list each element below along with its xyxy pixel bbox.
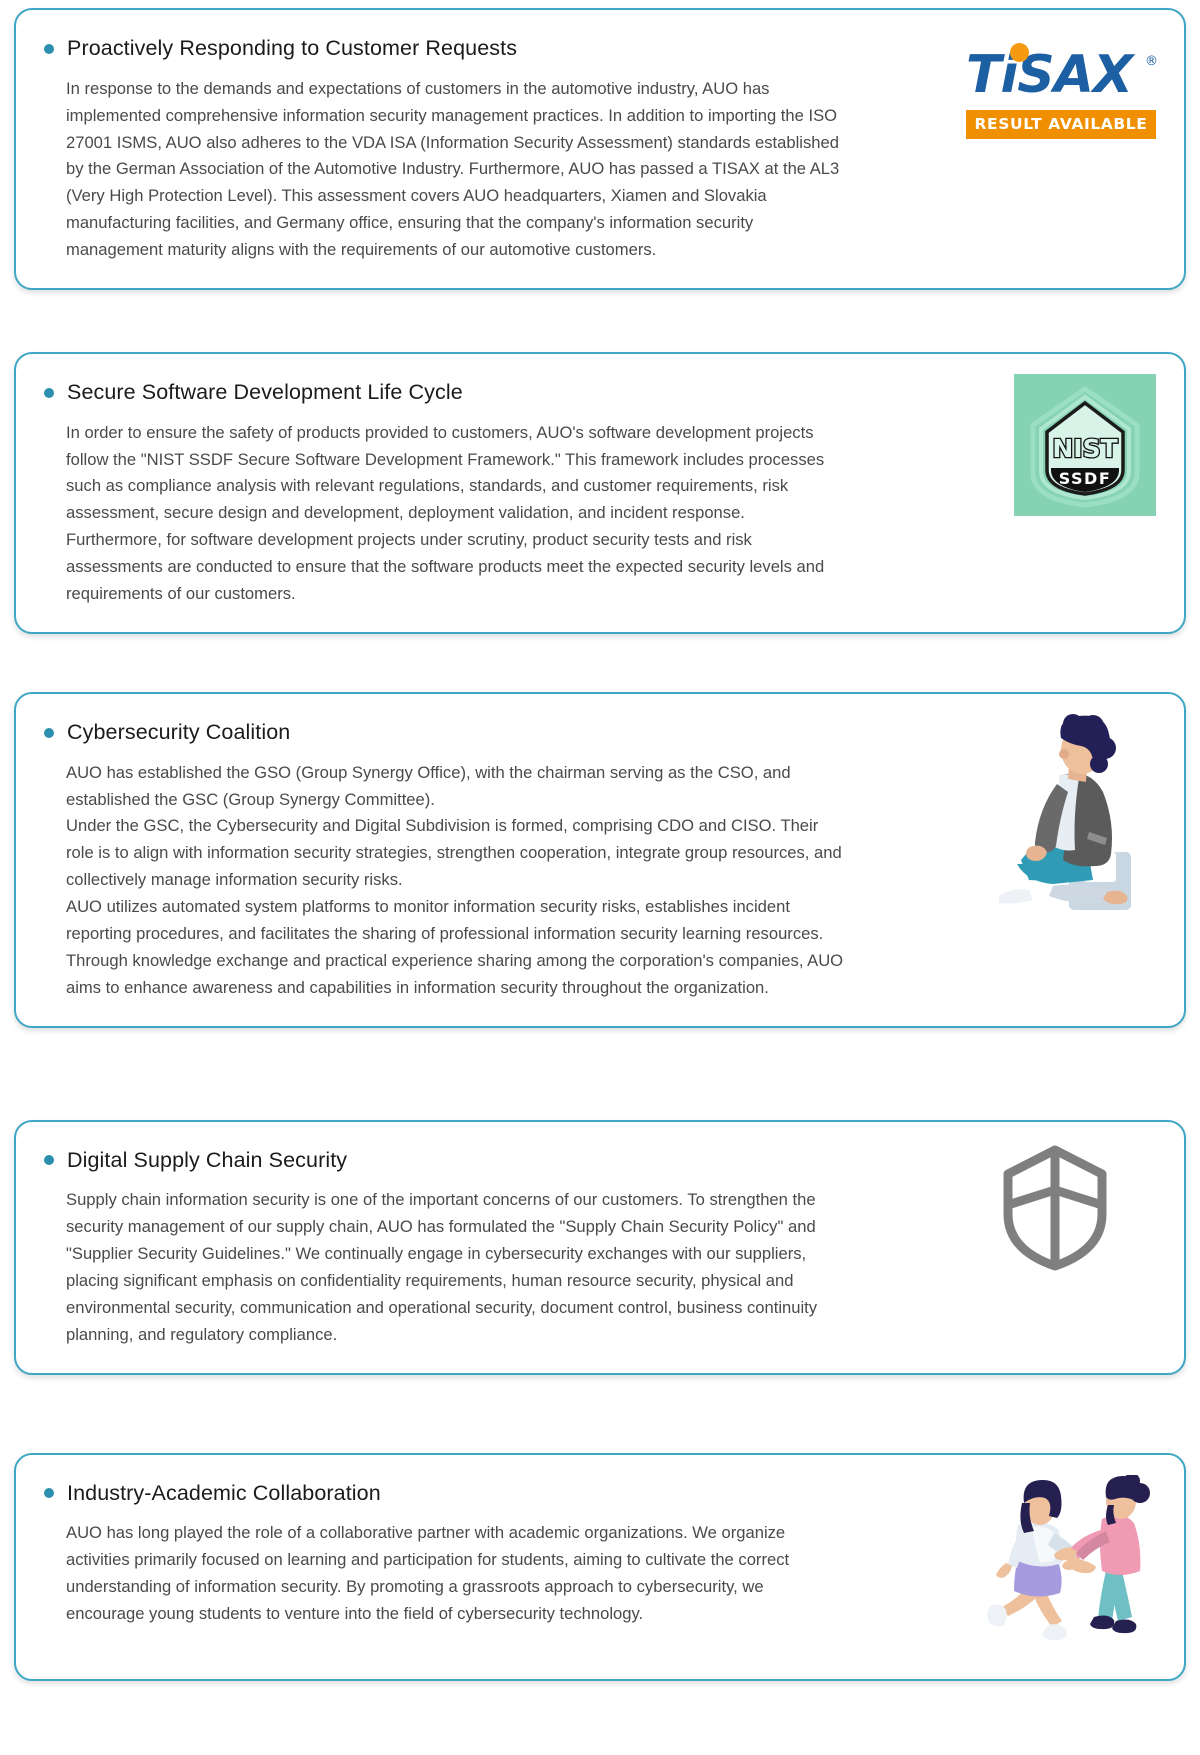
card-artwork (966, 1475, 1156, 1655)
card-paragraph: Supply chain information security is one… (44, 1187, 844, 1348)
tisax-result-banner: RESULT AVAILABLE (966, 110, 1156, 139)
card-artwork (981, 714, 1156, 929)
card-title: Cybersecurity Coalition (67, 720, 290, 746)
tisax-wordmark-wrap: TiSAX ® (966, 44, 1156, 106)
card-body: Proactively Responding to Customer Reque… (44, 30, 966, 264)
card-cybersecurity-coalition: Cybersecurity Coalition AUO has establis… (14, 692, 1186, 1028)
shield-icon (996, 1142, 1114, 1274)
bullet-icon (44, 1155, 54, 1165)
shield-graphic (996, 1142, 1156, 1279)
card-digital-supply-chain-security: Digital Supply Chain Security Supply cha… (14, 1120, 1186, 1375)
card-paragraph: AUO has established the GSO (Group Syner… (44, 760, 844, 1002)
card-paragraph: In order to ensure the safety of product… (44, 420, 844, 608)
tisax-orange-dot-icon (1010, 43, 1029, 62)
card-title: Secure Software Development Life Cycle (67, 380, 463, 406)
bullet-icon (44, 1488, 54, 1498)
people-greeting-icon (966, 1475, 1156, 1650)
card-body: Digital Supply Chain Security Supply cha… (44, 1142, 996, 1349)
card-artwork (996, 1142, 1156, 1279)
seated-person-illustration (981, 714, 1156, 929)
nist-hexagon-badge-icon: NIST SSDF (1021, 381, 1149, 509)
card-title: Digital Supply Chain Security (67, 1148, 347, 1174)
card-secure-sdlc: Secure Software Development Life Cycle I… (14, 352, 1186, 634)
card-body: Industry-Academic Collaboration AUO has … (44, 1475, 966, 1628)
bullet-icon (44, 388, 54, 398)
card-proactively-responding: Proactively Responding to Customer Reque… (14, 8, 1186, 290)
card-title: Proactively Responding to Customer Reque… (67, 36, 517, 62)
card-industry-academic-collaboration: Industry-Academic Collaboration AUO has … (14, 1453, 1186, 1681)
registered-trademark-icon: ® (1145, 54, 1158, 69)
security-practices-page: Proactively Responding to Customer Reque… (0, 0, 1200, 1715)
card-heading-row: Cybersecurity Coalition (44, 720, 981, 746)
nist-ssdf-badge: NIST SSDF (1014, 374, 1156, 516)
card-artwork: TiSAX ® RESULT AVAILABLE (966, 30, 1156, 139)
card-title: Industry-Academic Collaboration (67, 1481, 381, 1507)
card-paragraph: AUO has long played the role of a collab… (44, 1520, 844, 1628)
two-people-illustration (966, 1475, 1156, 1655)
person-sitting-icon (981, 714, 1156, 924)
card-paragraph: In response to the demands and expectati… (44, 76, 844, 264)
bullet-icon (44, 44, 54, 54)
bullet-icon (44, 728, 54, 738)
nist-top-label: NIST (1052, 434, 1117, 463)
nist-bottom-label: SSDF (1059, 469, 1112, 488)
card-heading-row: Industry-Academic Collaboration (44, 1481, 966, 1507)
card-heading-row: Secure Software Development Life Cycle (44, 380, 1014, 406)
tisax-logo: TiSAX ® RESULT AVAILABLE (966, 44, 1156, 139)
card-body: Secure Software Development Life Cycle I… (44, 374, 1014, 608)
card-body: Cybersecurity Coalition AUO has establis… (44, 714, 981, 1002)
tisax-wordmark: TiSAX (966, 44, 1156, 106)
card-heading-row: Proactively Responding to Customer Reque… (44, 36, 966, 62)
card-heading-row: Digital Supply Chain Security (44, 1148, 996, 1174)
card-artwork: NIST SSDF (1014, 374, 1156, 516)
